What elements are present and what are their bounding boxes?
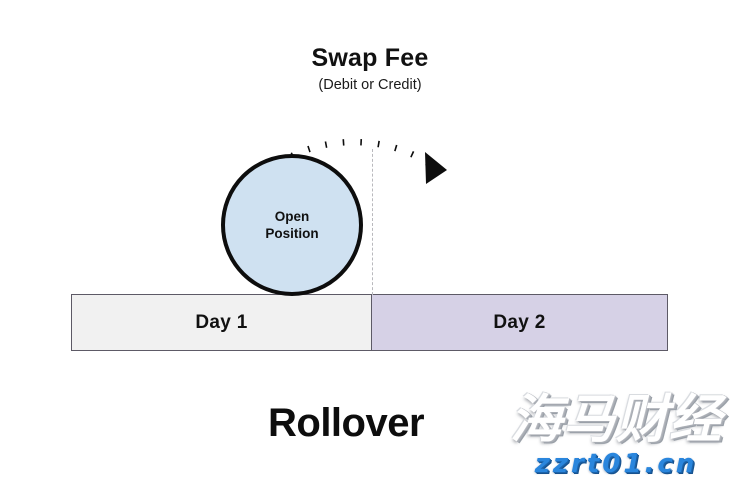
timeline-segment-day1: Day 1 (71, 294, 372, 351)
diagram-caption: Rollover (268, 400, 424, 446)
title-block: Swap Fee (Debit or Credit) (250, 44, 490, 94)
timeline-segment-day2-label: Day 2 (493, 312, 545, 334)
watermark: 海马财经 zzrt01.cn (492, 392, 740, 484)
watermark-brand: 海马财经 (492, 392, 740, 448)
diagram-canvas: Swap Fee (Debit or Credit) Open Position… (0, 0, 741, 486)
open-position-node: Open Position (221, 154, 363, 296)
open-position-label: Open Position (265, 208, 318, 242)
page-subtitle: (Debit or Credit) (250, 77, 490, 94)
timeline-segment-day1-label: Day 1 (195, 312, 247, 334)
watermark-domain: zzrt01.cn (492, 450, 740, 479)
timeline-segment-day2: Day 2 (371, 294, 668, 351)
page-title: Swap Fee (250, 44, 490, 72)
day-boundary-divider (372, 149, 373, 295)
